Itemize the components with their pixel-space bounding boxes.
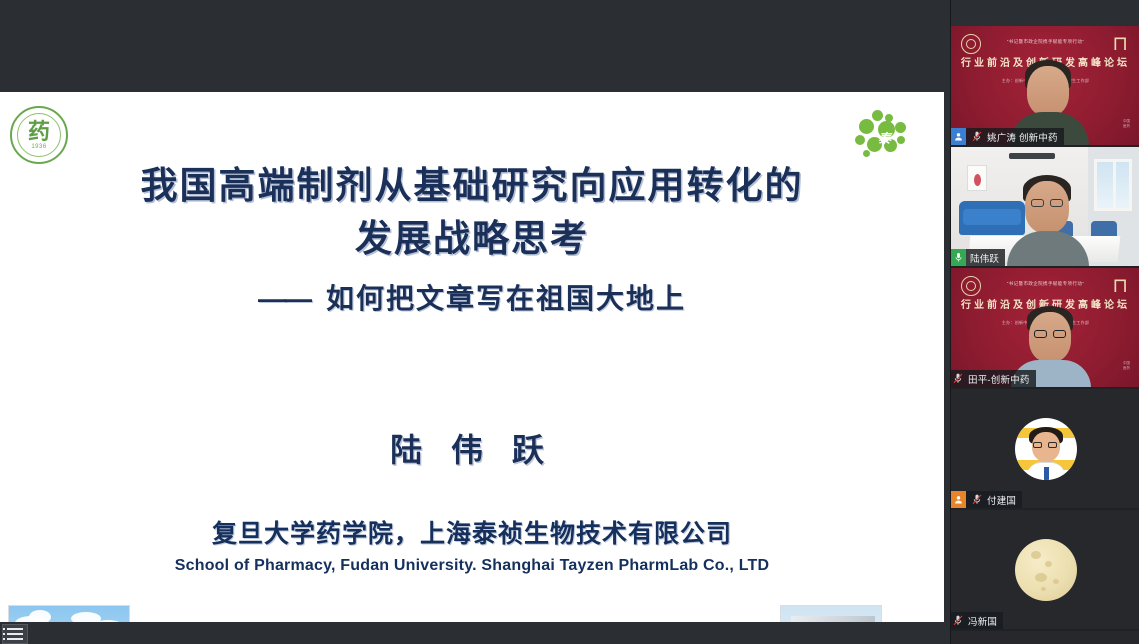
participant-tile-1[interactable]: ⊓ “书记暨市政企院携手赋能专项行动” 行业前沿及创新研发高峰论坛 主办：创新中… bbox=[951, 26, 1139, 145]
mic-muted-icon bbox=[951, 370, 964, 387]
glasses-icon bbox=[1034, 330, 1047, 338]
participant-name: 冯新国 bbox=[968, 614, 997, 628]
participant-tile-3[interactable]: ⊓ “书记暨市政企院携手赋能专项行动” 行业前沿及创新研发高峰论坛 主办：创新中… bbox=[951, 268, 1139, 387]
affiliation-chinese: 复旦大学药学院，上海泰祯生物技术有限公司 bbox=[0, 514, 944, 550]
person-icon bbox=[951, 491, 966, 508]
participant-tile-5[interactable]: 冯新国 bbox=[951, 510, 1139, 629]
participant-name-badge: 姚广涛 创新中药 bbox=[951, 128, 1064, 145]
slide-title-line-1: 我国高端制剂从基础研究向应用转化的 bbox=[0, 160, 944, 213]
subtitle-text: 如何把文章写在祖国大地上 bbox=[326, 283, 686, 314]
mic-active-icon bbox=[951, 249, 966, 266]
participant-tile-4[interactable]: 付建国 bbox=[951, 389, 1139, 508]
slide-speaker-name: 陆 伟 跃 bbox=[0, 425, 944, 471]
subtitle-dash: —— bbox=[258, 283, 310, 314]
mic-muted-icon bbox=[951, 612, 964, 629]
person-head bbox=[1025, 181, 1069, 233]
filmstrip-top-gap bbox=[951, 0, 1139, 26]
fudan-pharmacy-seal-icon: 药 1936 bbox=[10, 106, 68, 164]
participants-list-icon[interactable] bbox=[2, 624, 28, 644]
seal-year: 1936 bbox=[31, 144, 46, 150]
participant-name: 姚广涛 创新中药 bbox=[987, 130, 1058, 144]
backdrop-vertical-code: 中国医药 bbox=[1123, 119, 1130, 130]
glasses-icon bbox=[1050, 199, 1063, 207]
participant-name: 陆伟跃 bbox=[970, 251, 999, 265]
participant-name-badge: 付建国 bbox=[951, 491, 1022, 508]
slide-subtitle: ——如何把文章写在祖国大地上 bbox=[0, 277, 944, 317]
building-photo-left bbox=[8, 605, 130, 622]
mic-muted-icon bbox=[970, 128, 983, 145]
glasses-icon bbox=[1053, 330, 1066, 338]
glasses-icon bbox=[1031, 199, 1044, 207]
avatar bbox=[1015, 418, 1077, 480]
molecule-logo-char: 泰 bbox=[878, 128, 891, 147]
participant-filmstrip[interactable]: ⊓ “书记暨市政企院携手赋能专项行动” 行业前沿及创新研发高峰论坛 主办：创新中… bbox=[950, 0, 1139, 644]
participant-tile-2[interactable]: 陆伟跃 bbox=[951, 147, 1139, 266]
backdrop-header: “书记暨市政企院携手赋能专项行动” bbox=[951, 281, 1139, 287]
backdrop-header: “书记暨市政企院携手赋能专项行动” bbox=[951, 39, 1139, 45]
slide-affiliation-block: 复旦大学药学院，上海泰祯生物技术有限公司 School of Pharmacy,… bbox=[0, 514, 944, 575]
participant-name-badge: 陆伟跃 bbox=[951, 249, 1005, 266]
person-head bbox=[1027, 66, 1069, 116]
affiliation-english: School of Pharmacy, Fudan University. Sh… bbox=[0, 557, 944, 575]
backdrop-vertical-code: 中国医药 bbox=[1123, 361, 1130, 372]
participant-name: 田平-创新中药 bbox=[968, 372, 1030, 386]
participant-name: 付建国 bbox=[987, 493, 1016, 507]
tayzen-molecule-icon: 泰 bbox=[854, 110, 910, 158]
building-photo-right: C4 bbox=[780, 605, 882, 622]
slide-title-line-2: 发展战略思考 bbox=[0, 213, 944, 266]
participant-name-badge: 冯新国 bbox=[951, 612, 1003, 629]
participant-tile-6[interactable] bbox=[951, 631, 1139, 644]
presentation-slide[interactable]: 药 1936 泰 我国高端制剂从基础研究向应用转化的 bbox=[0, 92, 944, 622]
mic-muted-icon bbox=[970, 491, 983, 508]
screen-share-area[interactable]: 药 1936 泰 我国高端制剂从基础研究向应用转化的 bbox=[0, 0, 950, 644]
share-bottom-strip bbox=[0, 622, 950, 644]
participant-name-badge: 田平-创新中药 bbox=[951, 370, 1036, 387]
slide-title-block: 我国高端制剂从基础研究向应用转化的 发展战略思考 ——如何把文章写在祖国大地上 bbox=[0, 160, 944, 317]
person-icon bbox=[951, 128, 966, 145]
seal-char: 药 bbox=[28, 121, 50, 143]
video-conference-window: 药 1936 泰 我国高端制剂从基础研究向应用转化的 bbox=[0, 0, 1139, 644]
avatar bbox=[1015, 539, 1077, 601]
